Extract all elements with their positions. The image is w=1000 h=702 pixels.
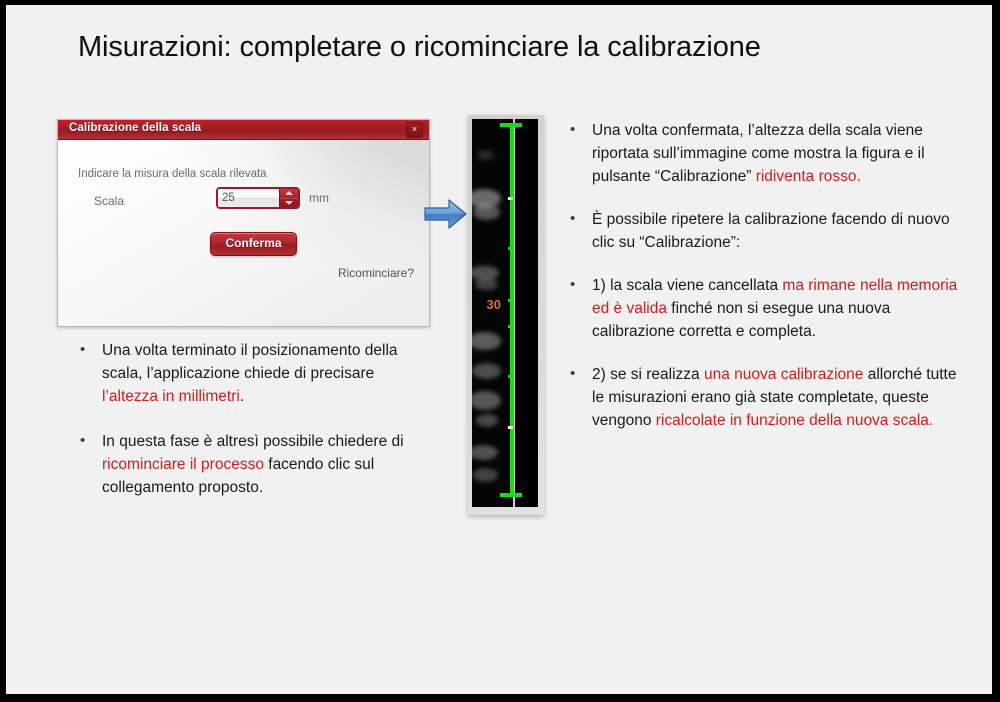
tissue-echo [475,278,499,290]
unit-label: mm [309,191,329,205]
tissue-echo [476,414,498,428]
tissue-echo [477,150,494,160]
image-dark-region [517,119,538,507]
stepper-up-icon[interactable] [280,189,298,199]
tissue-echo [472,332,501,349]
body-text: È possibile ripetere la calibrazione fac… [592,211,950,251]
restart-link[interactable]: Ricominciare? [338,266,414,280]
dialog-body: Indicare la misura della scala rilevata … [58,140,429,326]
calibration-dialog: Calibrazione della scala × Indicare la m… [57,119,430,327]
slide-frame: Misurazioni: completare o ricominciare l… [0,0,1000,702]
bullet-item: Una volta confermata, l’altezza della sc… [566,119,966,188]
bullet-item: È possibile ripetere la calibrazione fac… [566,208,966,254]
calibration-scale-line [510,123,514,497]
bullet-item: 2) se si realizza una nuova calibrazione… [566,363,966,432]
highlighted-text: una nuova calibrazione [704,366,863,383]
bullet-item: 1) la scala viene cancellata ma rimane n… [566,274,966,343]
body-text: In questa fase è altresì possibile chied… [102,433,404,450]
highlighted-text: l’altezza in millimetri [102,388,240,405]
highlighted-text: ricalcolate in funzione della nuova scal… [656,412,933,429]
stepper-down-icon[interactable] [280,199,298,208]
highlighted-text: ridiventa rosso. [756,168,861,185]
scale-tick [508,375,513,378]
body-text: Una volta terminato il posizionamento de… [102,342,398,382]
tissue-echo [472,445,498,461]
body-text: 1) la scala viene cancellata [592,277,782,294]
body-text: 2) se si realizza [592,366,704,383]
highlighted-text: ricominciare il processo [102,456,264,473]
dialog-titlebar: Calibrazione della scala × [58,120,429,140]
scale-tick [508,197,513,200]
dialog-title: Calibrazione della scala [69,122,201,134]
dialog-hint-text: Indicare la misura della scala rilevata [78,168,267,180]
ultrasound-image: 30 [472,119,538,507]
scale-cap-top [500,123,522,127]
bullet-item: In questa fase è altresì possibile chied… [76,430,406,499]
scale-tick [508,299,513,302]
scala-input[interactable] [218,189,279,207]
confirm-button[interactable]: Conferma [210,232,297,256]
close-icon[interactable]: × [406,122,423,138]
scale-tick [508,325,513,328]
ultrasound-image-panel: 30 [468,115,544,515]
tissue-echo [473,468,498,482]
scala-field-label: Scala [94,194,124,208]
right-bullet-list: Una volta confermata, l’altezza della sc… [566,119,966,452]
page-title: Misurazioni: completare o ricominciare l… [78,29,918,65]
tissue-echo [472,363,501,379]
bullet-item: Una volta terminato il posizionamento de… [76,339,406,408]
scale-tick [508,426,513,429]
tissue-echo [473,204,499,220]
right-arrow-icon [423,197,468,231]
slide-canvas: Misurazioni: completare o ricominciare l… [6,5,992,694]
scala-stepper[interactable] [216,187,300,209]
scale-value-label: 30 [487,297,501,312]
left-bullet-list: Una volta terminato il posizionamento de… [76,339,406,521]
scale-cap-bottom [500,493,522,497]
stepper-buttons[interactable] [279,189,298,207]
body-text: . [240,388,244,405]
tissue-echo [472,391,501,410]
scale-tick [508,247,513,250]
